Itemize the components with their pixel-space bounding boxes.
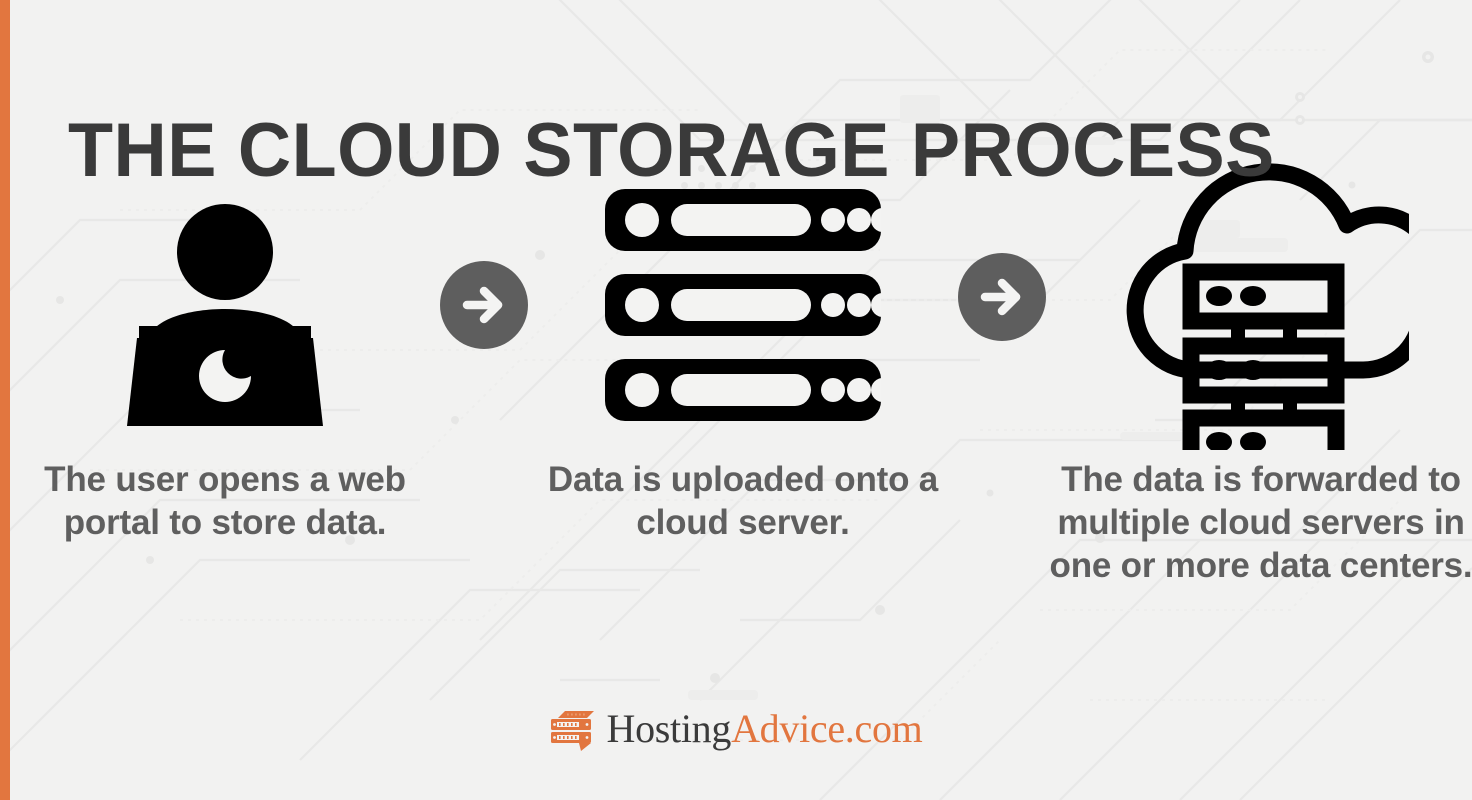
step-2-artwork <box>605 160 881 450</box>
arrow-1-circle <box>440 261 528 349</box>
arrow-1-wrapper <box>440 160 528 450</box>
orange-accent-rail <box>0 0 10 800</box>
page-title: THE CLOUD STORAGE PROCESS <box>68 109 1232 193</box>
logo-brand-primary: Hosting <box>607 706 732 751</box>
process-step-3: The data is forwarded to multiple cloud … <box>1046 160 1472 587</box>
arrow-right-icon <box>457 278 511 332</box>
step-2-caption: Data is uploaded onto a cloud server. <box>528 458 958 544</box>
user-at-laptop-icon <box>125 180 325 430</box>
cloud-servers-icon <box>1113 160 1409 450</box>
logo-brand-secondary: Advice.com <box>731 706 922 751</box>
arrow-right-icon <box>975 270 1029 324</box>
hostingadvice-logo[interactable]: HostingAdvice.com <box>0 700 1472 758</box>
logo-wordmark: HostingAdvice.com <box>607 707 923 751</box>
step-1-caption: The user opens a web portal to store dat… <box>10 458 440 544</box>
process-steps-row: The user opens a web portal to store dat… <box>10 160 1472 680</box>
arrow-2-circle <box>958 253 1046 341</box>
process-step-2: Data is uploaded onto a cloud server. <box>528 160 958 544</box>
hostingadvice-server-bubble-icon <box>550 707 596 751</box>
server-stack-icon <box>605 189 881 421</box>
step-1-artwork <box>125 160 325 450</box>
arrow-2-wrapper <box>958 152 1046 442</box>
step-3-artwork <box>1113 160 1409 450</box>
infographic-canvas: THE CLOUD STORAGE PROCESS The user opens… <box>0 0 1472 800</box>
step-3-caption: The data is forwarded to multiple cloud … <box>1046 458 1472 587</box>
process-step-1: The user opens a web portal to store dat… <box>10 160 440 544</box>
